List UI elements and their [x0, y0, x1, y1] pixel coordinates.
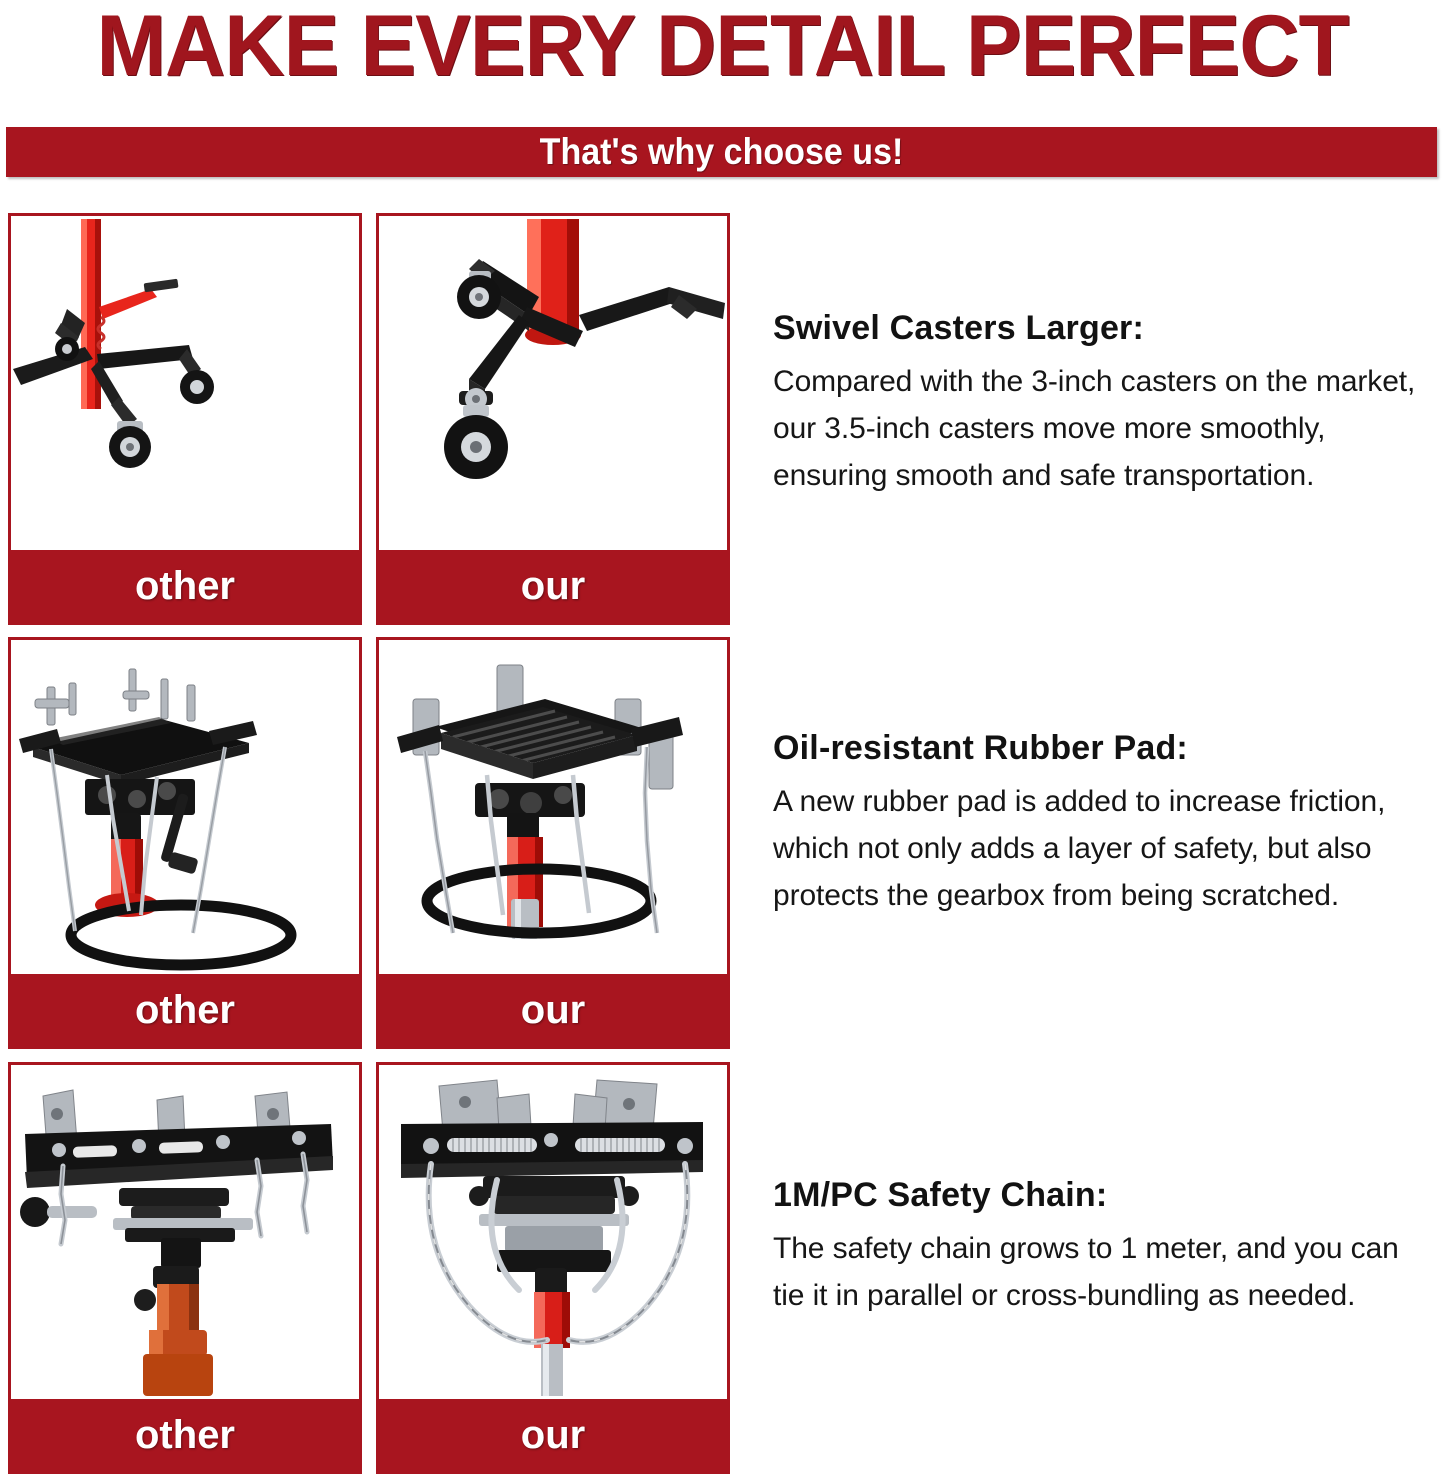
illustration-our-long-chain — [379, 1065, 727, 1399]
feature-block-safety-chain: 1M/PC Safety Chain: The safety chain gro… — [773, 1173, 1428, 1319]
panel-caption-other: other — [11, 1399, 359, 1471]
illustration-our-ribbed-rubber-pad — [379, 640, 727, 974]
subtitle-text: That's why choose us! — [63, 127, 1380, 177]
panel-caption-our: our — [379, 550, 727, 622]
panel-caption-other: other — [11, 974, 359, 1046]
panel-caption-other: other — [11, 550, 359, 622]
feature-text-column: Swivel Casters Larger: Compared with the… — [773, 213, 1428, 1475]
feature-heading: 1M/PC Safety Chain: — [773, 1173, 1428, 1217]
feature-heading: Swivel Casters Larger: — [773, 306, 1428, 350]
subtitle-banner: That's why choose us! — [6, 127, 1437, 177]
panel-other-rubber-pad: other — [8, 637, 362, 1049]
feature-body: A new rubber pad is added to increase fr… — [773, 778, 1428, 919]
photo-other-rubber-pad — [11, 640, 359, 974]
comparison-row-rubber-pad: other — [8, 637, 730, 1049]
illustration-other-short-chain — [11, 1065, 359, 1399]
feature-block-rubber-pad: Oil-resistant Rubber Pad: A new rubber p… — [773, 726, 1428, 919]
panel-caption-our: our — [379, 1399, 727, 1471]
photo-our-rubber-pad — [379, 640, 727, 974]
illustration-other-caster-base — [11, 216, 359, 550]
feature-block-swivel-casters: Swivel Casters Larger: Compared with the… — [773, 306, 1428, 499]
illustration-other-flat-saddle — [11, 640, 359, 974]
comparison-row-safety-chain: other — [8, 1062, 730, 1474]
panel-our-safety-chain: our — [376, 1062, 730, 1474]
feature-heading: Oil-resistant Rubber Pad: — [773, 726, 1428, 770]
panel-other-safety-chain: other — [8, 1062, 362, 1474]
illustration-our-caster-base — [379, 216, 727, 550]
panel-other-casters: other — [8, 213, 362, 625]
panel-caption-our: our — [379, 974, 727, 1046]
photo-other-safety-chain — [11, 1065, 359, 1399]
feature-body: The safety chain grows to 1 meter, and y… — [773, 1225, 1428, 1319]
page-title: MAKE EVERY DETAIL PERFECT — [22, 0, 1424, 96]
panel-our-rubber-pad: our — [376, 637, 730, 1049]
comparison-row-casters: other — [8, 213, 730, 625]
comparison-panel-grid: other — [8, 213, 730, 1475]
photo-other-casters — [11, 216, 359, 550]
panel-our-casters: our — [376, 213, 730, 625]
photo-our-safety-chain — [379, 1065, 727, 1399]
photo-our-casters — [379, 216, 727, 550]
feature-body: Compared with the 3-inch casters on the … — [773, 358, 1428, 499]
